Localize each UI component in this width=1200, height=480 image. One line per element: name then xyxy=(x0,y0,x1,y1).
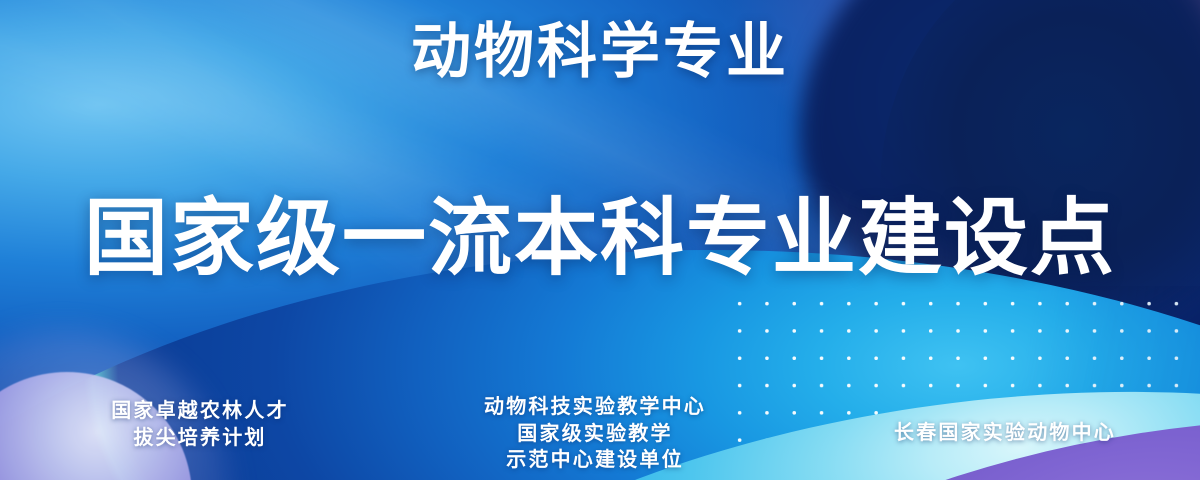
caption-left-line-1: 国家卓越农林人才 xyxy=(60,398,340,425)
caption-right-line-1: 长春国家实验动物中心 xyxy=(840,420,1170,447)
caption-left: 国家卓越农林人才 拔尖培养计划 xyxy=(60,398,340,451)
caption-middle-line-3: 示范中心建设单位 xyxy=(430,447,760,474)
caption-middle-line-1: 动物科技实验教学中心 xyxy=(430,394,760,421)
caption-middle-line-2: 国家级实验教学 xyxy=(430,421,760,448)
caption-right: 长春国家实验动物中心 xyxy=(840,420,1170,447)
banner-eyebrow-title: 动物科学专业 xyxy=(0,22,1200,82)
banner-headline: 国家级一流本科专业建设点 xyxy=(0,196,1200,280)
caption-middle: 动物科技实验教学中心 国家级实验教学 示范中心建设单位 xyxy=(430,394,760,474)
promo-banner: 动物科学专业 国家级一流本科专业建设点 国家卓越农林人才 拔尖培养计划 动物科技… xyxy=(0,0,1200,480)
caption-left-line-2: 拔尖培养计划 xyxy=(60,425,340,452)
